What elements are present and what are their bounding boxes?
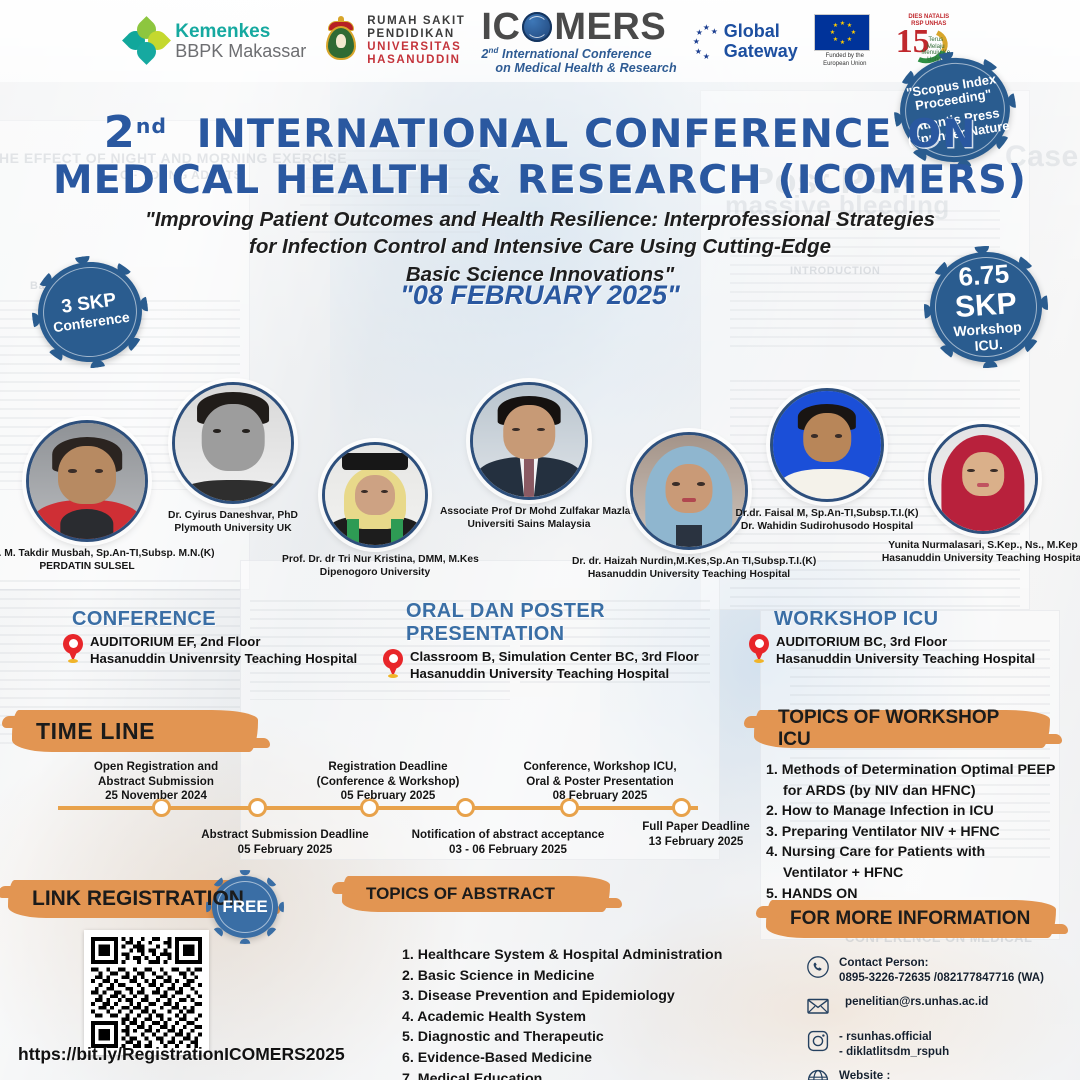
venue-address-line2: Hasanuddin University Teaching Hospital bbox=[776, 651, 1035, 668]
whatsapp-icon bbox=[806, 955, 830, 979]
venue-title-line1: ORAL DAN POSTER bbox=[406, 600, 699, 623]
global-gateway-line1: Global bbox=[724, 21, 798, 41]
venue-title: CONFERENCE bbox=[62, 608, 357, 631]
venue-address-line1: AUDITORIUM BC, 3rd Floor bbox=[776, 634, 1035, 651]
website-label: Website : bbox=[839, 1068, 988, 1080]
envelope-icon bbox=[806, 994, 830, 1018]
contact-phone-row: Contact Person: 0895-3226-72635 /0821778… bbox=[806, 955, 1044, 985]
list-item: 2. Basic Science in Medicine bbox=[402, 966, 752, 987]
global-gateway-line2: Gateway bbox=[724, 41, 798, 61]
rs-label-line2: PENDIDIKAN bbox=[367, 28, 465, 41]
timeline-item: Notification of abstract acceptance 03 -… bbox=[378, 828, 638, 857]
venue-title-line2: PRESENTATION bbox=[406, 623, 699, 646]
contact-info: Contact Person: 0895-3226-72635 /0821778… bbox=[806, 955, 1044, 1080]
avatar bbox=[26, 420, 148, 542]
avatar bbox=[928, 424, 1038, 534]
location-pin-icon bbox=[62, 634, 84, 664]
speaker-affiliation: Plymouth University UK bbox=[152, 523, 314, 536]
rs-label-line1: RUMAH SAKIT bbox=[367, 15, 465, 28]
instagram-handle-1: - rsunhas.official bbox=[839, 1029, 949, 1044]
speaker-name: Dr. dr. Haizah Nurdin,M.Kes,Sp.An TI,Sub… bbox=[572, 556, 806, 569]
rs-unhas-logo: RUMAH SAKIT PENDIDIKAN UNIVERSITAS HASAN… bbox=[322, 15, 465, 67]
speaker-card: Yunita Nurmalasari, S.Kep., Ns., M.Kep H… bbox=[928, 424, 1080, 566]
list-item: 4. Nursing Care for Patients with bbox=[766, 842, 1066, 863]
list-item: 3. Disease Prevention and Epidemiology bbox=[402, 986, 752, 1007]
speaker-card: Associate Prof Dr Mohd Zulfakar Mazlan U… bbox=[470, 382, 618, 532]
conference-poster: THE EFFECT OF NIGHT AND MORNING EXERCISE… bbox=[0, 0, 1080, 1080]
avatar bbox=[172, 382, 294, 504]
eu-funded-caption: Funded by the European Union bbox=[814, 53, 876, 68]
kemenkes-logo: Kemenkes BBPK Makassar bbox=[126, 20, 306, 62]
speaker-affiliation: Dr. Wahidin Sudirohusodo Hospital bbox=[730, 521, 924, 534]
free-badge-label: FREE bbox=[222, 898, 267, 917]
icomers-sub-line2: on Medical Health & Research bbox=[495, 62, 676, 75]
venue-oral-poster: ORAL DAN POSTER PRESENTATION Classroom B… bbox=[382, 600, 699, 683]
venue-title: WORKSHOP ICU bbox=[748, 608, 1035, 631]
venue-conference: CONFERENCE AUDITORIUM EF, 2nd Floor Hasa… bbox=[62, 608, 357, 667]
list-item: Ventilator + HFNC bbox=[766, 863, 1066, 884]
global-gateway-logo: ★★ ★★ ★★ Global Gateway bbox=[693, 21, 798, 61]
contact-email-row: penelitian@rs.unhas.ac.id bbox=[806, 994, 1044, 1018]
contact-person-label: Contact Person: bbox=[839, 955, 1044, 970]
list-item: 3. Preparing Ventilator NIV + HFNC bbox=[766, 822, 1066, 843]
abstract-topics-list: 1. Healthcare System & Hospital Administ… bbox=[402, 945, 752, 1080]
speaker-affiliation: Universiti Sains Malaysia bbox=[440, 519, 618, 532]
instagram-handle-2: - diklatlitsdm_rspuh bbox=[839, 1044, 949, 1059]
workshop-topics-list: 1. Methods of Determination Optimal PEEP… bbox=[766, 760, 1066, 904]
venue-address-line2: Hasanuddin Univenrsity Teaching Hospital bbox=[90, 651, 357, 668]
theme-line1: "Improving Patient Outcomes and Health R… bbox=[90, 206, 990, 233]
conference-theme: "Improving Patient Outcomes and Health R… bbox=[90, 206, 990, 288]
eu-flag-icon: ★★ ★★ ★★ ★★ bbox=[814, 14, 870, 51]
list-item: 6. Evidence-Based Medicine bbox=[402, 1048, 752, 1069]
speaker-affiliation: PERDATIN SULSEL bbox=[0, 561, 228, 574]
contact-instagram-row: - rsunhas.official - diklatlitsdm_rspuh bbox=[806, 1029, 1044, 1059]
venue-workshop-icu: WORKSHOP ICU AUDITORIUM BC, 3rd Floor Ha… bbox=[748, 608, 1035, 667]
title-line2: MEDICAL HEALTH & RESEARCH (ICOMERS) bbox=[50, 159, 1029, 204]
registration-qr-code[interactable] bbox=[84, 930, 209, 1055]
avatar bbox=[322, 442, 428, 548]
contact-email[interactable]: penelitian@rs.unhas.ac.id bbox=[839, 994, 988, 1009]
icomers-mark-a: IC bbox=[481, 8, 520, 46]
timeline-node bbox=[248, 798, 267, 817]
speaker-name: Associate Prof Dr Mohd Zulfakar Mazlan bbox=[440, 506, 618, 519]
eu-stars-icon: ★★ ★★ ★★ bbox=[693, 23, 719, 59]
kemenkes-flower-icon bbox=[126, 20, 168, 62]
timeline-item: Abstract Submission Deadline 05 February… bbox=[172, 828, 398, 857]
timeline-item: Open Registration and Abstract Submissio… bbox=[66, 760, 246, 804]
contact-heading: FOR MORE INFORMATION bbox=[780, 900, 1042, 938]
speaker-affiliation: Hasanuddin University Teaching Hospital bbox=[572, 569, 806, 582]
venue-address-line1: Classroom B, Simulation Center BC, 3rd F… bbox=[410, 649, 699, 666]
list-item: 7. Medical Education bbox=[402, 1069, 752, 1080]
globe-icon bbox=[522, 12, 552, 42]
title-ordinal-number: 2 bbox=[104, 107, 136, 158]
venue-address-line1: AUDITORIUM EF, 2nd Floor bbox=[90, 634, 357, 651]
icomers-sub-sup: nd bbox=[488, 46, 498, 55]
instagram-icon bbox=[806, 1029, 830, 1053]
workshop-topics-heading: TOPICS OF WORKSHOP ICU bbox=[768, 710, 1036, 748]
list-item: 4. Academic Health System bbox=[402, 1007, 752, 1028]
theme-line2: for Infection Control and Intensive Care… bbox=[90, 233, 990, 260]
registration-url[interactable]: https://bit.ly/RegistrationICOMERS2025 bbox=[18, 1044, 338, 1065]
free-badge: FREE bbox=[212, 876, 278, 938]
speaker-affiliation: Hasanuddin University Teaching Hospital bbox=[878, 553, 1080, 566]
unhas-crest-icon bbox=[322, 18, 360, 64]
kemenkes-label-line1: Kemenkes bbox=[175, 22, 306, 42]
page-title: 2nd INTERNATIONAL CONFERENCE ON MEDICAL … bbox=[60, 108, 1020, 203]
avatar bbox=[470, 382, 588, 500]
list-item: 5. Diagnostic and Therapeutic bbox=[402, 1027, 752, 1048]
speaker-name: Prof. Dr. dr Tri Nur Kristina, DMM, M.Ke… bbox=[282, 554, 468, 567]
icomers-logo: IC MERS 2nd International Conference on … bbox=[481, 8, 676, 74]
list-item: 1. Healthcare System & Hospital Administ… bbox=[402, 945, 752, 966]
speaker-card: Dr.dr. Faisal M, Sp.An-TI,Subsp.T.I.(K) … bbox=[770, 388, 924, 534]
speaker-name: Dr. Cyirus Daneshvar, PhD bbox=[152, 510, 314, 523]
timeline-item: Registration Deadline (Conference & Work… bbox=[278, 760, 498, 804]
location-pin-icon bbox=[382, 649, 404, 679]
list-item: 2. How to Manage Infection in ICU bbox=[766, 801, 1066, 822]
globe-icon bbox=[806, 1068, 830, 1080]
title-line1-rest: INTERNATIONAL CONFERENCE ON bbox=[197, 112, 977, 157]
location-pin-icon bbox=[748, 634, 770, 664]
event-date: "08 FEBRUARY 2025" bbox=[90, 280, 990, 311]
speaker-name: Dr.dr. Faisal M, Sp.An-TI,Subsp.T.I.(K) bbox=[730, 508, 924, 521]
contact-website-row: Website : https://bit.ly/ICOMERS2025 bbox=[806, 1068, 1044, 1080]
timeline-item: Conference, Workshop ICU, Oral & Poster … bbox=[486, 760, 714, 804]
kemenkes-label-line2: BBPK Makassar bbox=[175, 42, 306, 61]
title-ordinal-suffix: nd bbox=[136, 114, 167, 138]
eu-funding-logo: ★★ ★★ ★★ ★★ Funded by the European Union bbox=[814, 14, 876, 68]
rs-label-line3: UNIVERSITAS bbox=[367, 41, 465, 54]
avatar bbox=[770, 388, 884, 502]
speaker-name: Dr. dr. A. M. Takdir Musbah, Sp.An-TI,Su… bbox=[0, 548, 228, 561]
abstract-topics-heading: TOPICS OF ABSTRACT bbox=[356, 876, 596, 912]
contact-person-numbers: 0895-3226-72635 /082177847716 (WA) bbox=[839, 970, 1044, 985]
icomers-sub-line1: International Conference bbox=[502, 47, 652, 61]
list-item: 1. Methods of Determination Optimal PEEP bbox=[766, 760, 1066, 781]
speaker-card: Dr. Cyirus Daneshvar, PhD Plymouth Unive… bbox=[172, 382, 314, 536]
list-item: for ARDS (by NIV dan HFNC) bbox=[766, 781, 1066, 802]
timeline-heading: TIME LINE bbox=[26, 710, 244, 752]
icomers-mark-b: MERS bbox=[554, 8, 666, 46]
speaker-affiliation: Dipenogoro University bbox=[282, 567, 468, 580]
rs-label-line4: HASANUDDIN bbox=[367, 54, 465, 67]
timeline-item: Full Paper Deadline 13 February 2025 bbox=[612, 820, 780, 849]
speaker-name: Yunita Nurmalasari, S.Kep., Ns., M.Kep bbox=[878, 540, 1080, 553]
venue-address-line2: Hasanuddin University Teaching Hospital bbox=[410, 666, 699, 683]
